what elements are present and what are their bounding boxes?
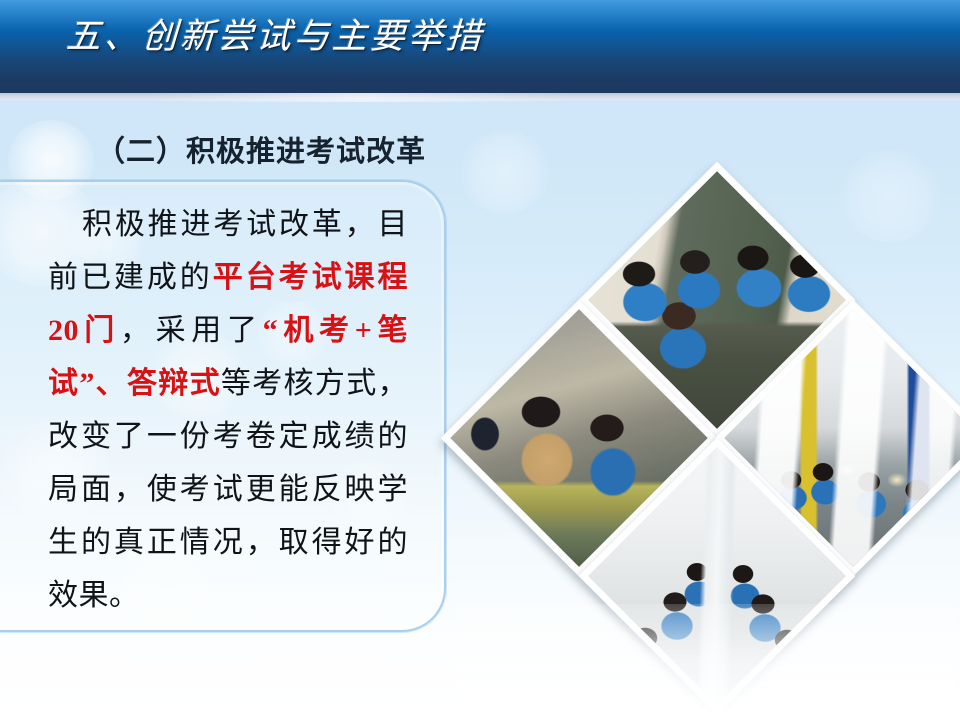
photo-collage [455,160,955,620]
page-title: 五、创新尝试与主要举措 [65,18,485,57]
body-text-run-2: ，采用了 [120,314,263,347]
section-subtitle: （二）积极推进考试改革 [96,128,426,170]
body-text-run-4: 等考核方式，改变了一份考卷定成绩的局面，使考试更能反映学生的真正情况，取得好的效… [48,367,408,612]
body-paragraph: 积极推进考试改革，目前已建成的平台考试课程20门，采用了“机考+笔试”、答辩式等… [48,198,408,622]
presentation-slide: 五、创新尝试与主要举措 （二）积极推进考试改革 积极推进考试改革，目前已建成的平… [0,0,960,720]
header-divider [0,93,960,102]
